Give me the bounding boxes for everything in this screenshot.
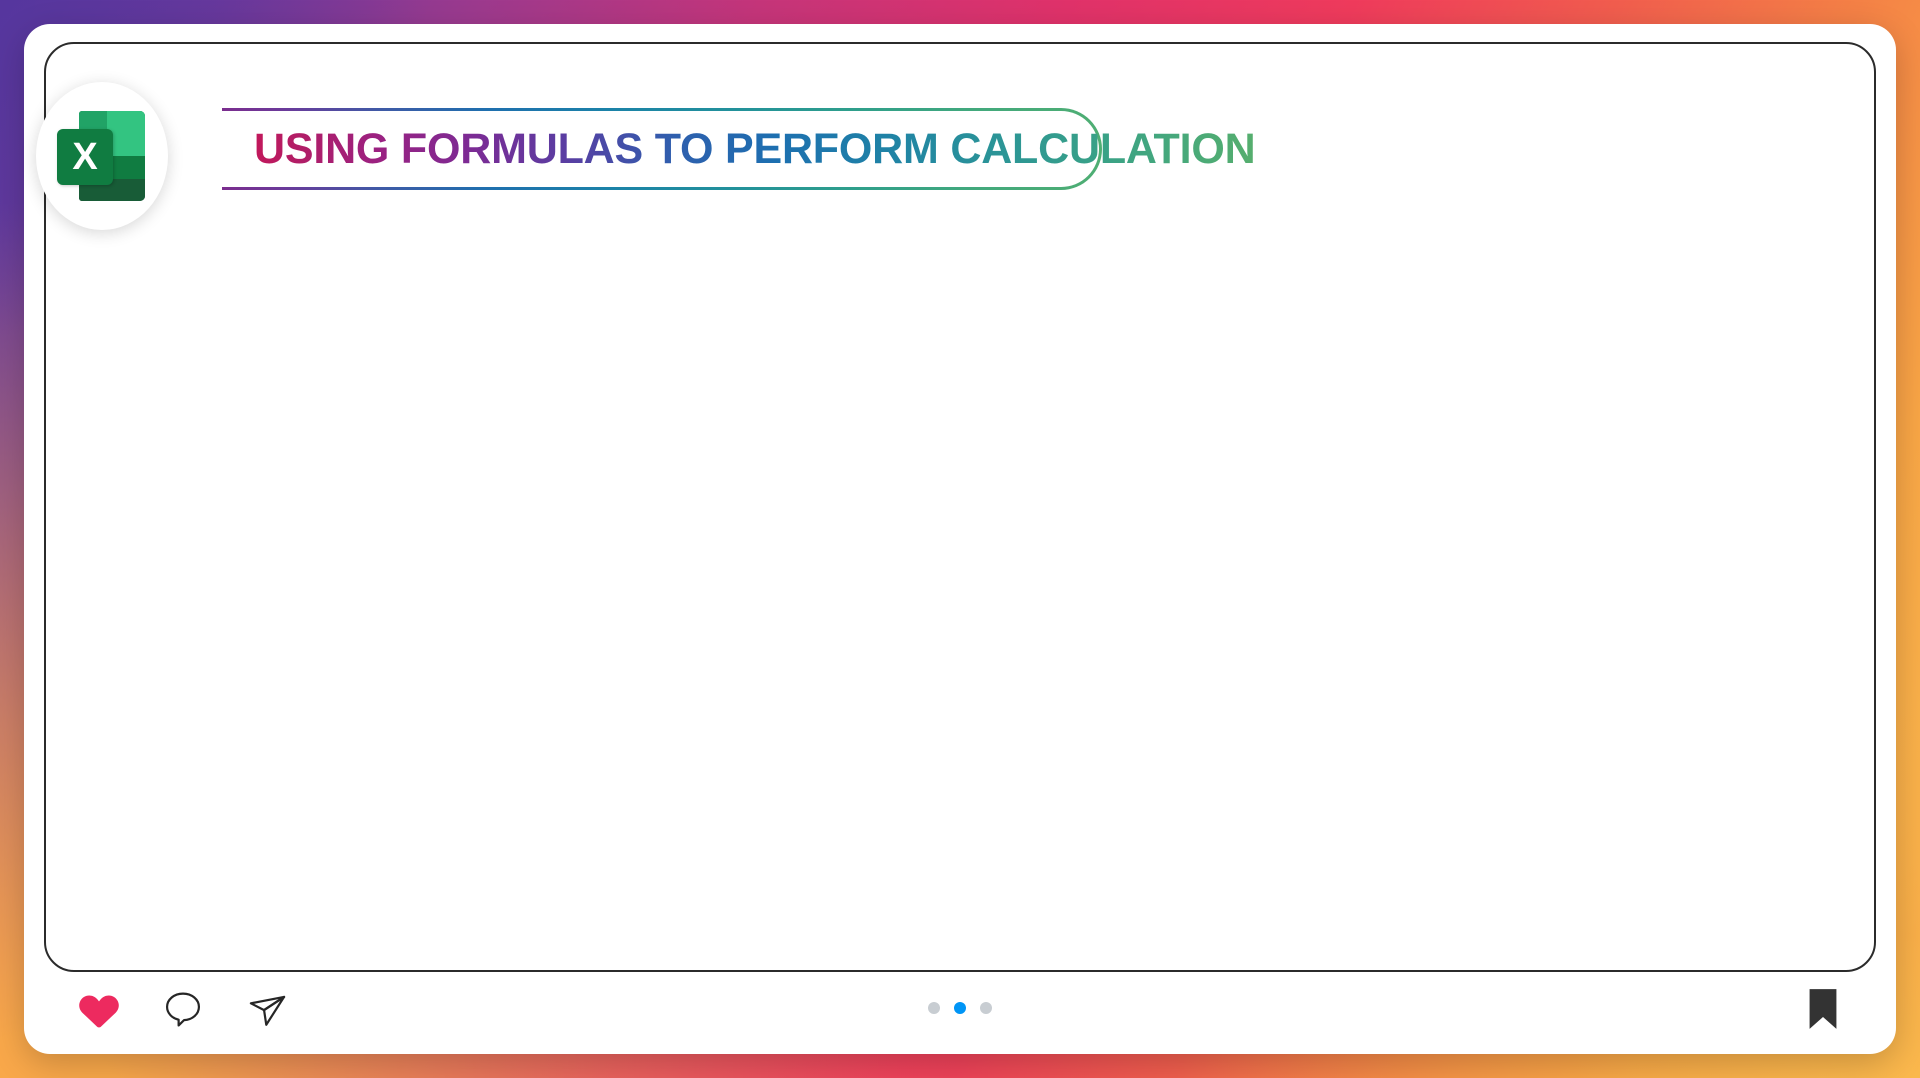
pagination-dot-2[interactable] xyxy=(954,1002,966,1014)
post-card: USING FORMULAS TO PERFORM CALCULATION xyxy=(24,24,1896,1054)
excel-x-letter: X xyxy=(72,138,97,176)
post-action-bar xyxy=(24,974,1896,1054)
slide-canvas: USING FORMULAS TO PERFORM CALCULATION xyxy=(44,42,1876,972)
microsoft-excel-logo: X xyxy=(53,107,151,205)
pagination-dot-1[interactable] xyxy=(928,1002,940,1014)
heart-icon xyxy=(77,989,121,1029)
pagination-dot-3[interactable] xyxy=(980,1002,992,1014)
like-button[interactable] xyxy=(72,982,126,1036)
comment-button[interactable] xyxy=(156,982,210,1036)
share-paper-plane-icon xyxy=(245,987,289,1031)
instagram-post-viewport: USING FORMULAS TO PERFORM CALCULATION xyxy=(0,0,1920,1078)
slide-title: USING FORMULAS TO PERFORM CALCULATION xyxy=(254,94,1255,204)
excel-logo-badge: X xyxy=(36,82,168,230)
excel-sheet-highlight xyxy=(107,111,145,134)
share-button[interactable] xyxy=(240,982,294,1036)
carousel-pagination xyxy=(928,1002,992,1014)
save-button[interactable] xyxy=(1796,982,1850,1036)
bookmark-icon xyxy=(1803,986,1843,1032)
comment-bubble-icon xyxy=(162,988,204,1030)
slide-heading-block: USING FORMULAS TO PERFORM CALCULATION xyxy=(82,94,1142,204)
excel-x-tile: X xyxy=(57,129,113,185)
action-bar-left-group xyxy=(72,982,294,1036)
